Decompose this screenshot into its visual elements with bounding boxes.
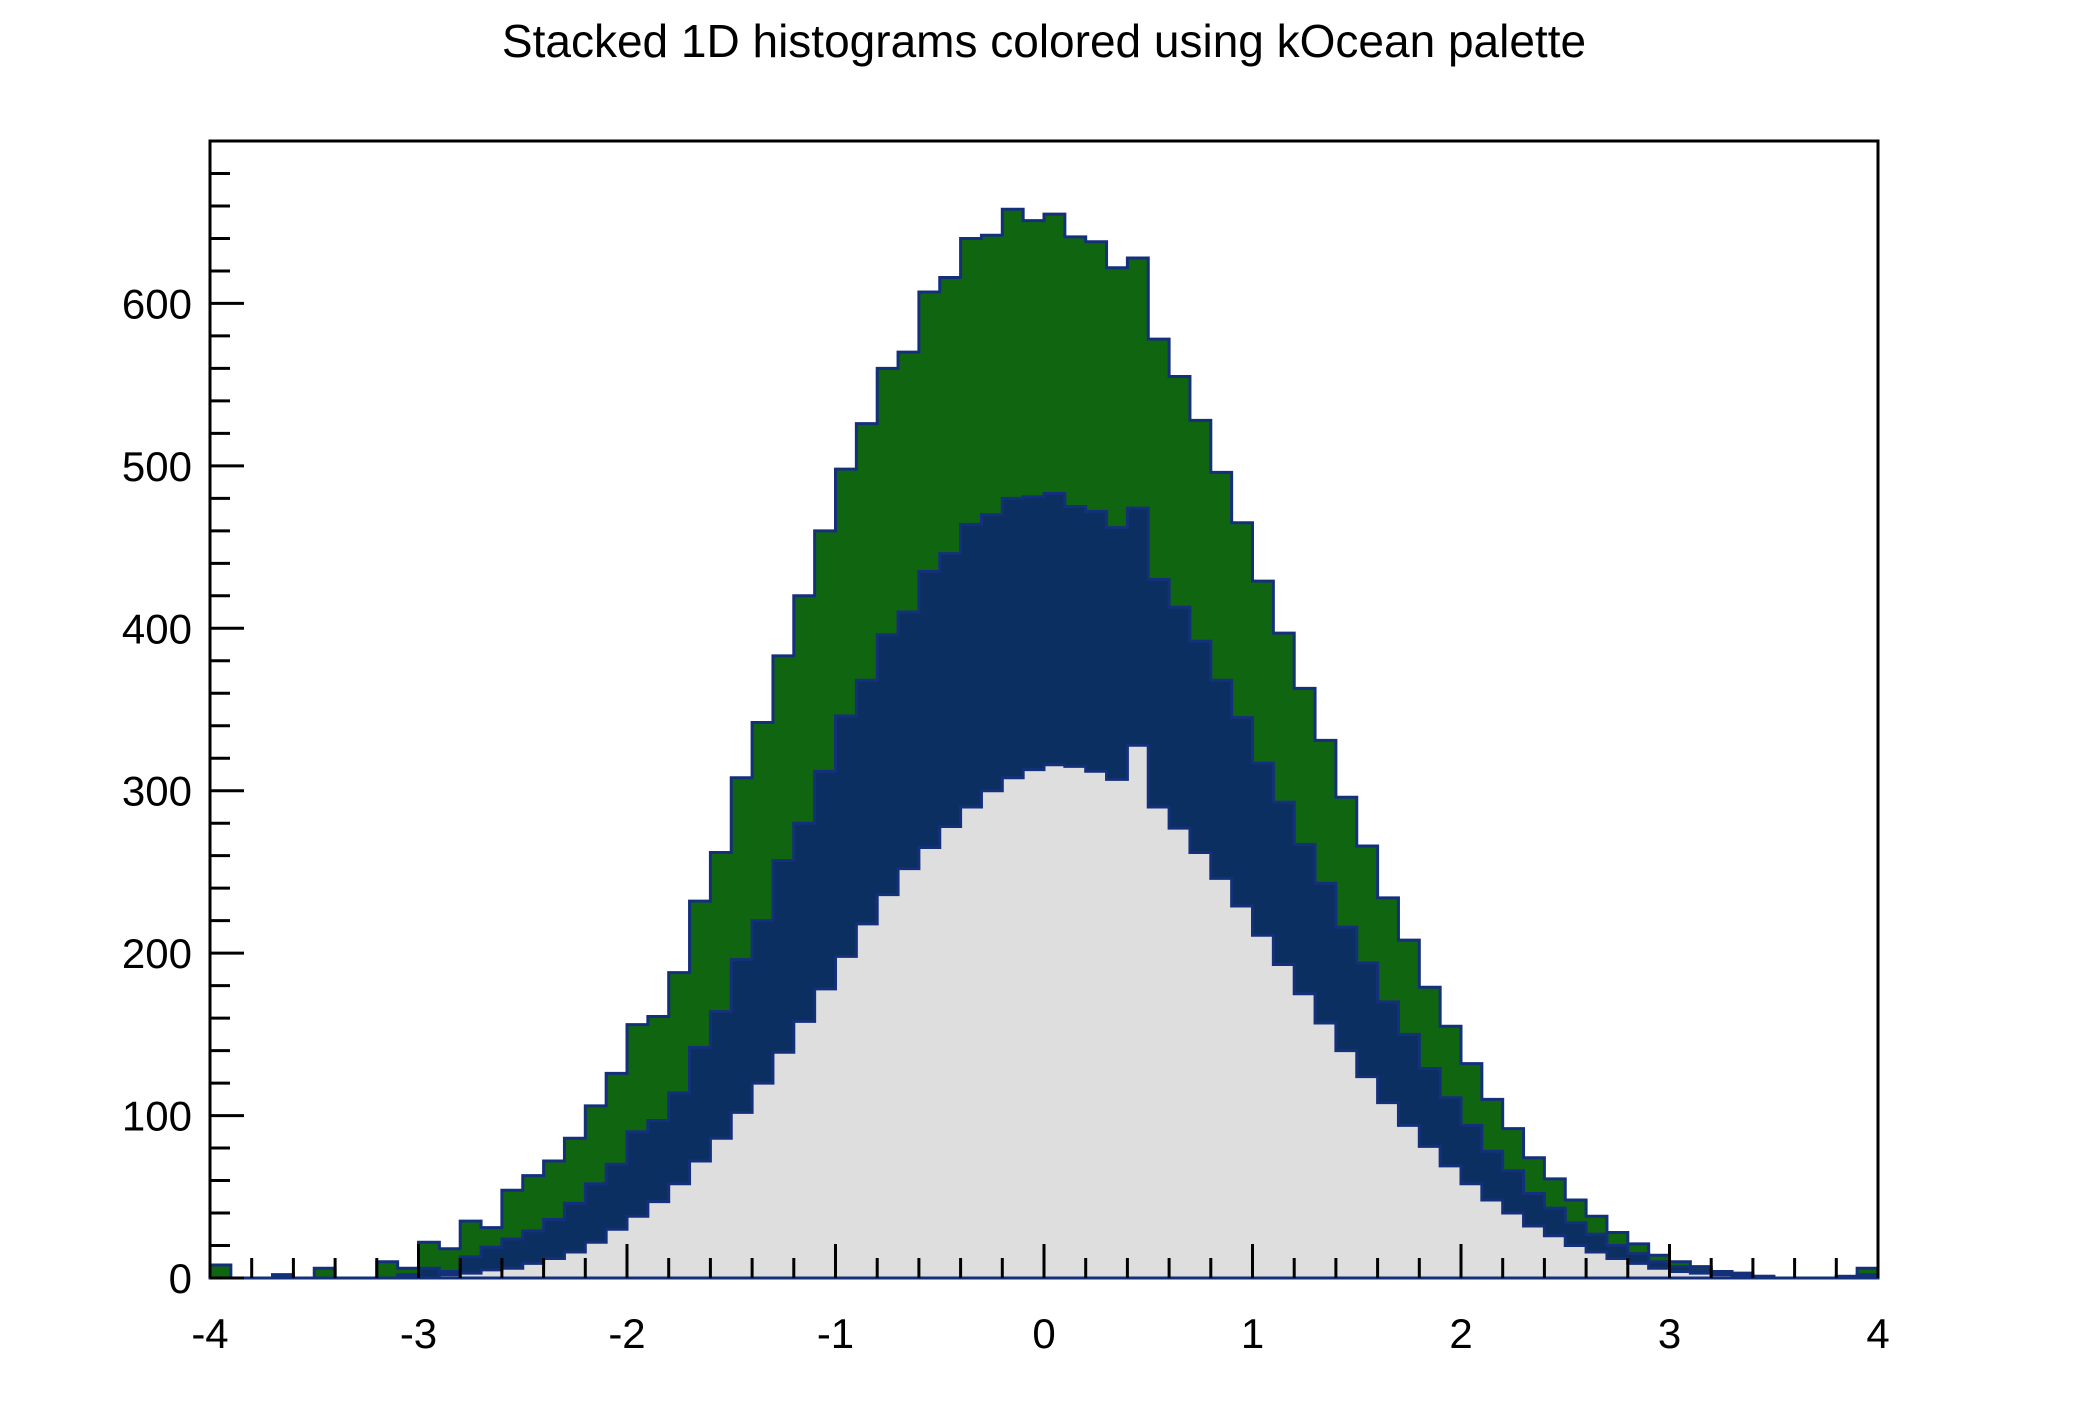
y-tick-label: 400 <box>122 605 192 652</box>
x-tick-label: 0 <box>1032 1310 1055 1357</box>
y-tick-label: 0 <box>169 1255 192 1302</box>
x-tick-label: 2 <box>1449 1310 1472 1357</box>
root-canvas: Stacked 1D histograms colored using kOce… <box>0 0 2088 1416</box>
x-tick-label: -1 <box>817 1310 854 1357</box>
x-tick-label: -2 <box>608 1310 645 1357</box>
y-tick-label: 200 <box>122 930 192 977</box>
y-tick-label: 600 <box>122 280 192 327</box>
histogram-histogram-1 <box>210 745 1878 1278</box>
x-tick-label: 4 <box>1866 1310 1889 1357</box>
x-tick-label: -3 <box>400 1310 437 1357</box>
stacked-series-layer <box>210 209 1878 1278</box>
x-tick-label: 1 <box>1241 1310 1264 1357</box>
histogram-plot: 0100200300400500600-4-3-2-101234 <box>0 0 2088 1416</box>
y-tick-label: 100 <box>122 1093 192 1140</box>
y-tick-label: 500 <box>122 443 192 490</box>
x-tick-label: 3 <box>1658 1310 1681 1357</box>
y-tick-label: 300 <box>122 768 192 815</box>
x-tick-label: -4 <box>191 1310 228 1357</box>
